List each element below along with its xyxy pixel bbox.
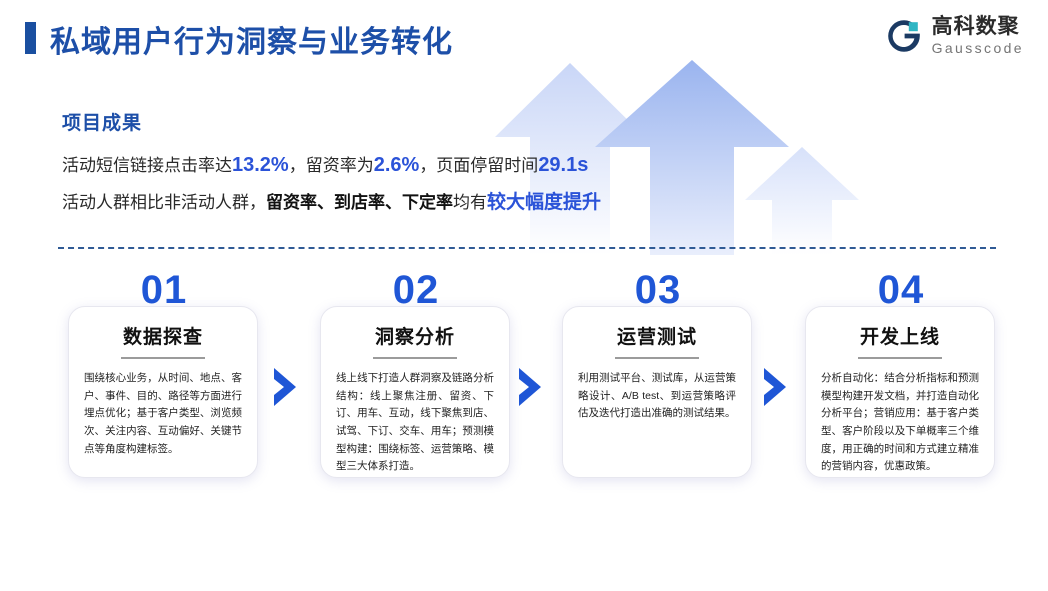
stat-ctr: 13.2% <box>232 154 289 176</box>
slide-header: 私域用户行为洞察与业务转化 高科数聚 Gausscode <box>0 0 1048 78</box>
results-line1-part3: ，页面停留时间 <box>419 156 538 175</box>
brand-logo: 高科数聚 Gausscode <box>885 16 1024 55</box>
results-line1-part2: ，留资率为 <box>289 156 374 175</box>
step-title-1: 数据探查 <box>69 322 257 349</box>
stat-dwell-time: 29.1s <box>538 154 588 176</box>
step-number-3: 03 <box>563 268 753 313</box>
gausscode-g-logo-icon <box>885 17 923 55</box>
stat-lead-rate: 2.6% <box>374 154 420 176</box>
results-line1-part1: 活动短信链接点击率达 <box>62 156 232 175</box>
step-number-4: 04 <box>806 268 996 313</box>
step-title-2: 洞察分析 <box>321 322 509 349</box>
step-rule-1 <box>121 357 205 359</box>
step-body-1: 围绕核心业务，从时间、地点、客户、事件、目的、路径等方面进行埋点优化；基于客户类… <box>84 370 242 458</box>
step-body-2: 线上线下打造人群洞察及链路分析结构：线上聚焦注册、留资、下订、用车、互动，线下聚… <box>336 370 494 476</box>
logo-wordmark: 高科数聚 Gausscode <box>932 16 1024 55</box>
step-rule-3 <box>615 357 699 359</box>
results-heading: 项目成果 <box>62 108 702 135</box>
title-accent-bar <box>25 22 36 54</box>
project-results-block: 项目成果 活动短信链接点击率达13.2%，留资率为2.6%，页面停留时间29.1… <box>62 108 702 231</box>
step-title-3: 运营测试 <box>563 322 751 349</box>
results-line2-part1: 活动人群相比非活动人群， <box>62 193 266 212</box>
step-number-2: 02 <box>321 268 511 313</box>
chevron-step-2-to-3-icon <box>517 366 543 408</box>
section-divider <box>58 247 996 249</box>
step-rule-2 <box>373 357 457 359</box>
step-card-1[interactable]: 01 数据探查 围绕核心业务，从时间、地点、客户、事件、目的、路径等方面进行埋点… <box>68 306 258 478</box>
results-line-1: 活动短信链接点击率达13.2%，留资率为2.6%，页面停留时间29.1s <box>62 154 702 176</box>
slide-canvas: 私域用户行为洞察与业务转化 高科数聚 Gausscode <box>0 0 1048 591</box>
results-line2-metrics: 留资率、到店率、下定率 <box>266 193 453 212</box>
process-steps: 01 数据探查 围绕核心业务，从时间、地点、客户、事件、目的、路径等方面进行埋点… <box>0 270 1048 520</box>
arrow-up-right-shape <box>745 147 859 255</box>
logo-name-cn: 高科数聚 <box>932 16 1024 37</box>
step-body-3: 利用测试平台、测试库，从运营策略设计、A/B test、到运营策略评估及迭代打造… <box>578 370 736 423</box>
step-card-3[interactable]: 03 运营测试 利用测试平台、测试库，从运营策略设计、A/B test、到运营策… <box>562 306 752 478</box>
logo-name-en: Gausscode <box>932 41 1024 55</box>
step-card-2[interactable]: 02 洞察分析 线上线下打造人群洞察及链路分析结构：线上聚焦注册、留资、下订、用… <box>320 306 510 478</box>
results-line-2: 活动人群相比非活动人群，留资率、到店率、下定率均有较大幅度提升 <box>62 193 702 214</box>
page-title: 私域用户行为洞察与业务转化 <box>50 17 453 61</box>
step-card-4[interactable]: 04 开发上线 分析自动化：结合分析指标和预测模型构建开发文档，并打造自动化分析… <box>805 306 995 478</box>
step-number-1: 01 <box>69 268 259 313</box>
results-line2-highlight: 较大幅度提升 <box>487 192 601 213</box>
chevron-step-3-to-4-icon <box>762 366 788 408</box>
results-line2-part2: 均有 <box>453 193 487 212</box>
step-title-4: 开发上线 <box>806 322 994 349</box>
chevron-step-1-to-2-icon <box>272 366 298 408</box>
step-rule-4 <box>858 357 942 359</box>
step-body-4: 分析自动化：结合分析指标和预测模型构建开发文档，并打造自动化分析平台；营销应用：… <box>821 370 979 476</box>
